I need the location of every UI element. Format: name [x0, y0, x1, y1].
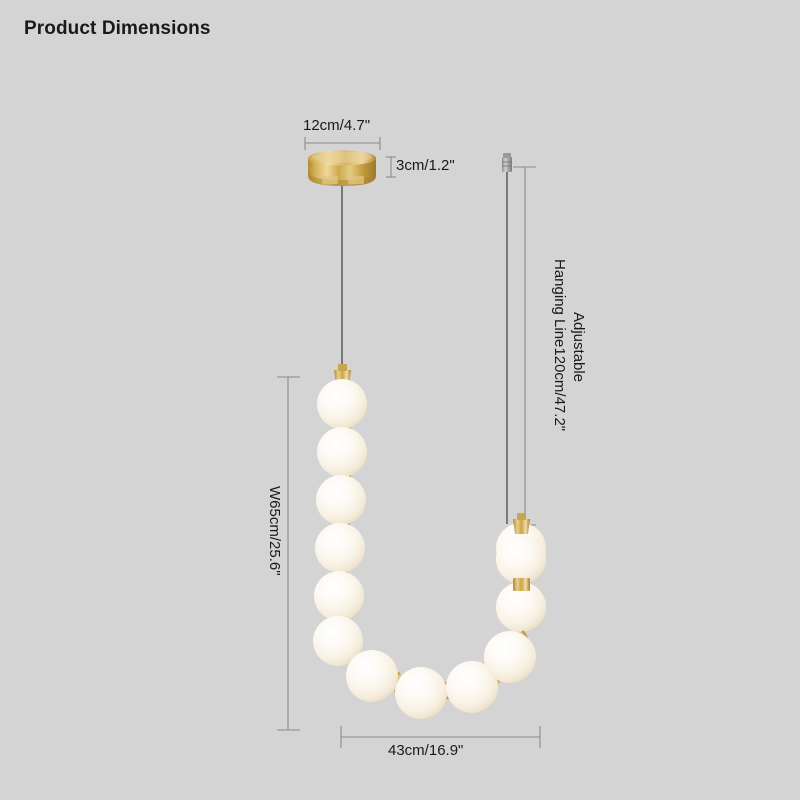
glass-bead	[484, 631, 536, 683]
bead-chain	[313, 364, 546, 719]
glass-bead	[315, 523, 365, 573]
product-dimensions-diagram: Product Dimensions	[0, 0, 800, 800]
bead-connector	[513, 578, 530, 591]
cable-gripper	[502, 157, 512, 172]
canopy-height-label: 3cm/1.2"	[396, 157, 455, 174]
glass-bead	[314, 571, 364, 621]
overall-width-label: 43cm/16.9"	[388, 742, 463, 759]
glass-bead	[496, 534, 546, 584]
canopy-height-dimension	[386, 157, 396, 177]
canopy-width-label: 12cm/4.7"	[303, 117, 370, 134]
ceiling-canopy	[308, 151, 376, 381]
right-chain-top-cap	[513, 513, 530, 534]
cable-gripper-cap	[503, 153, 511, 158]
glass-bead	[316, 475, 366, 525]
glass-bead	[395, 667, 447, 719]
canopy-top-highlight	[312, 151, 372, 162]
canopy-nub-right	[348, 176, 364, 184]
glass-bead	[346, 650, 398, 702]
hanging-line-label-length: Hanging Line120cm/47.2"	[551, 259, 568, 431]
hanging-line-label-adjustable: Adjustable	[570, 312, 587, 382]
adjustable-hanging-cord	[502, 153, 512, 524]
canopy-width-dimension	[305, 137, 380, 150]
canopy-nub-left	[322, 176, 338, 184]
glass-bead	[317, 427, 367, 477]
pendant-light-illustration	[0, 0, 800, 800]
hanging-line-dimension	[513, 167, 536, 525]
overall-height-label: W65cm/25.6"	[266, 486, 283, 576]
glass-bead	[317, 379, 367, 429]
